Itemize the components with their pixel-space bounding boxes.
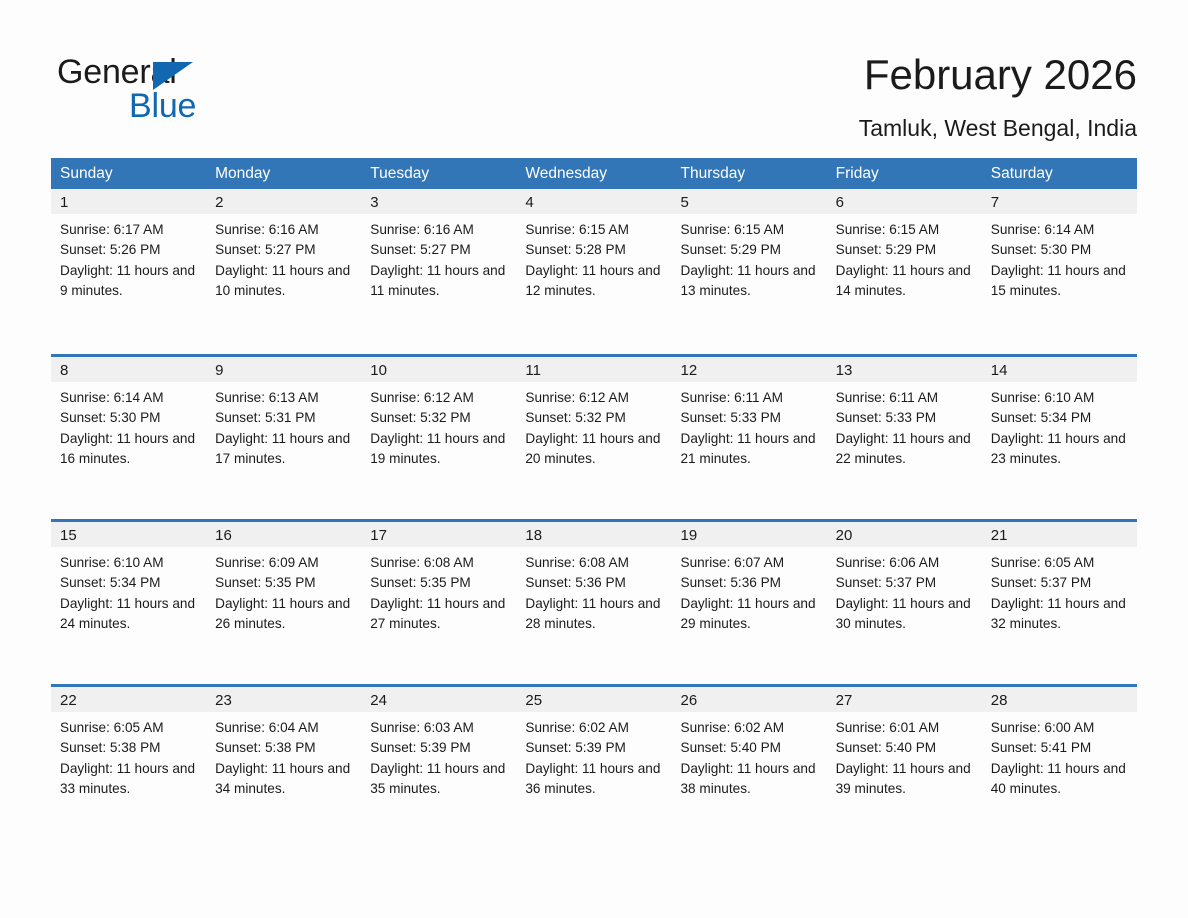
daylight-text: Daylight: 11 hours and 10 minutes. xyxy=(215,261,355,302)
sunset-text: Sunset: 5:29 PM xyxy=(836,240,976,260)
sunrise-text: Sunrise: 6:01 AM xyxy=(836,718,976,738)
sunset-text: Sunset: 5:39 PM xyxy=(525,738,665,758)
day-number: 10 xyxy=(361,357,516,382)
day-cell[interactable]: 1 Sunrise: 6:17 AM Sunset: 5:26 PM Dayli… xyxy=(51,189,206,354)
day-cell[interactable]: 13 Sunrise: 6:11 AM Sunset: 5:33 PM Dayl… xyxy=(827,354,982,519)
daylight-text: Daylight: 11 hours and 11 minutes. xyxy=(370,261,510,302)
sunset-text: Sunset: 5:27 PM xyxy=(215,240,355,260)
weekday-header-wednesday: Wednesday xyxy=(516,158,671,189)
sunset-text: Sunset: 5:30 PM xyxy=(60,408,200,428)
day-details: Sunrise: 6:07 AM Sunset: 5:36 PM Dayligh… xyxy=(672,547,827,634)
sunrise-text: Sunrise: 6:08 AM xyxy=(370,553,510,573)
day-details: Sunrise: 6:00 AM Sunset: 5:41 PM Dayligh… xyxy=(982,712,1137,799)
day-details: Sunrise: 6:11 AM Sunset: 5:33 PM Dayligh… xyxy=(827,382,982,469)
day-details: Sunrise: 6:02 AM Sunset: 5:40 PM Dayligh… xyxy=(672,712,827,799)
sunset-text: Sunset: 5:30 PM xyxy=(991,240,1131,260)
sunrise-text: Sunrise: 6:14 AM xyxy=(60,388,200,408)
sunrise-text: Sunrise: 6:05 AM xyxy=(60,718,200,738)
day-number: 12 xyxy=(672,357,827,382)
page-title: February 2026 xyxy=(859,50,1137,100)
day-number: 24 xyxy=(361,687,516,712)
day-cell[interactable]: 4 Sunrise: 6:15 AM Sunset: 5:28 PM Dayli… xyxy=(516,189,671,354)
day-details: Sunrise: 6:12 AM Sunset: 5:32 PM Dayligh… xyxy=(516,382,671,469)
day-cell[interactable]: 2 Sunrise: 6:16 AM Sunset: 5:27 PM Dayli… xyxy=(206,189,361,354)
day-details: Sunrise: 6:17 AM Sunset: 5:26 PM Dayligh… xyxy=(51,214,206,301)
daylight-text: Daylight: 11 hours and 15 minutes. xyxy=(991,261,1131,302)
location-subtitle: Tamluk, West Bengal, India xyxy=(859,114,1137,142)
sunset-text: Sunset: 5:40 PM xyxy=(681,738,821,758)
day-number: 2 xyxy=(206,189,361,214)
sunrise-text: Sunrise: 6:16 AM xyxy=(370,220,510,240)
day-cell[interactable]: 15 Sunrise: 6:10 AM Sunset: 5:34 PM Dayl… xyxy=(51,519,206,684)
daylight-text: Daylight: 11 hours and 35 minutes. xyxy=(370,759,510,800)
sunrise-text: Sunrise: 6:07 AM xyxy=(681,553,821,573)
day-details: Sunrise: 6:10 AM Sunset: 5:34 PM Dayligh… xyxy=(982,382,1137,469)
day-number: 1 xyxy=(51,189,206,214)
sunrise-text: Sunrise: 6:10 AM xyxy=(991,388,1131,408)
sunrise-text: Sunrise: 6:15 AM xyxy=(681,220,821,240)
sunrise-text: Sunrise: 6:02 AM xyxy=(681,718,821,738)
sunset-text: Sunset: 5:35 PM xyxy=(215,573,355,593)
day-number: 27 xyxy=(827,687,982,712)
sunrise-text: Sunrise: 6:03 AM xyxy=(370,718,510,738)
day-details: Sunrise: 6:10 AM Sunset: 5:34 PM Dayligh… xyxy=(51,547,206,634)
day-number: 5 xyxy=(672,189,827,214)
day-cell[interactable]: 8 Sunrise: 6:14 AM Sunset: 5:30 PM Dayli… xyxy=(51,354,206,519)
sunset-text: Sunset: 5:32 PM xyxy=(370,408,510,428)
daylight-text: Daylight: 11 hours and 40 minutes. xyxy=(991,759,1131,800)
title-block: February 2026 Tamluk, West Bengal, India xyxy=(859,50,1137,142)
daylight-text: Daylight: 11 hours and 20 minutes. xyxy=(525,429,665,470)
sunrise-text: Sunrise: 6:04 AM xyxy=(215,718,355,738)
daylight-text: Daylight: 11 hours and 33 minutes. xyxy=(60,759,200,800)
daylight-text: Daylight: 11 hours and 14 minutes. xyxy=(836,261,976,302)
day-cell[interactable]: 5 Sunrise: 6:15 AM Sunset: 5:29 PM Dayli… xyxy=(672,189,827,354)
week-row: 22 Sunrise: 6:05 AM Sunset: 5:38 PM Dayl… xyxy=(51,684,1137,849)
sunrise-text: Sunrise: 6:15 AM xyxy=(525,220,665,240)
daylight-text: Daylight: 11 hours and 32 minutes. xyxy=(991,594,1131,635)
day-cell[interactable]: 24 Sunrise: 6:03 AM Sunset: 5:39 PM Dayl… xyxy=(361,684,516,849)
daylight-text: Daylight: 11 hours and 16 minutes. xyxy=(60,429,200,470)
day-cell[interactable]: 27 Sunrise: 6:01 AM Sunset: 5:40 PM Dayl… xyxy=(827,684,982,849)
calendar-page: General Blue February 2026 Tamluk, West … xyxy=(0,0,1188,918)
sunrise-text: Sunrise: 6:12 AM xyxy=(370,388,510,408)
day-number: 16 xyxy=(206,522,361,547)
sunrise-text: Sunrise: 6:15 AM xyxy=(836,220,976,240)
daylight-text: Daylight: 11 hours and 17 minutes. xyxy=(215,429,355,470)
daylight-text: Daylight: 11 hours and 24 minutes. xyxy=(60,594,200,635)
sunset-text: Sunset: 5:33 PM xyxy=(836,408,976,428)
day-number: 18 xyxy=(516,522,671,547)
day-cell[interactable]: 3 Sunrise: 6:16 AM Sunset: 5:27 PM Dayli… xyxy=(361,189,516,354)
day-number: 17 xyxy=(361,522,516,547)
sunset-text: Sunset: 5:34 PM xyxy=(991,408,1131,428)
weekday-header-sunday: Sunday xyxy=(51,158,206,189)
day-cell[interactable]: 10 Sunrise: 6:12 AM Sunset: 5:32 PM Dayl… xyxy=(361,354,516,519)
day-details: Sunrise: 6:01 AM Sunset: 5:40 PM Dayligh… xyxy=(827,712,982,799)
day-number: 15 xyxy=(51,522,206,547)
sunrise-text: Sunrise: 6:11 AM xyxy=(836,388,976,408)
sunset-text: Sunset: 5:32 PM xyxy=(525,408,665,428)
daylight-text: Daylight: 11 hours and 13 minutes. xyxy=(681,261,821,302)
day-details: Sunrise: 6:08 AM Sunset: 5:35 PM Dayligh… xyxy=(361,547,516,634)
sunset-text: Sunset: 5:28 PM xyxy=(525,240,665,260)
day-number: 13 xyxy=(827,357,982,382)
day-details: Sunrise: 6:09 AM Sunset: 5:35 PM Dayligh… xyxy=(206,547,361,634)
day-cell[interactable]: 22 Sunrise: 6:05 AM Sunset: 5:38 PM Dayl… xyxy=(51,684,206,849)
daylight-text: Daylight: 11 hours and 26 minutes. xyxy=(215,594,355,635)
daylight-text: Daylight: 11 hours and 30 minutes. xyxy=(836,594,976,635)
day-cell[interactable]: 7 Sunrise: 6:14 AM Sunset: 5:30 PM Dayli… xyxy=(982,189,1137,354)
day-number: 21 xyxy=(982,522,1137,547)
day-cell[interactable]: 16 Sunrise: 6:09 AM Sunset: 5:35 PM Dayl… xyxy=(206,519,361,684)
sunset-text: Sunset: 5:40 PM xyxy=(836,738,976,758)
day-cell[interactable]: 17 Sunrise: 6:08 AM Sunset: 5:35 PM Dayl… xyxy=(361,519,516,684)
sunset-text: Sunset: 5:37 PM xyxy=(991,573,1131,593)
daylight-text: Daylight: 11 hours and 27 minutes. xyxy=(370,594,510,635)
day-number: 14 xyxy=(982,357,1137,382)
day-number: 4 xyxy=(516,189,671,214)
day-details: Sunrise: 6:08 AM Sunset: 5:36 PM Dayligh… xyxy=(516,547,671,634)
week-row: 8 Sunrise: 6:14 AM Sunset: 5:30 PM Dayli… xyxy=(51,354,1137,519)
daylight-text: Daylight: 11 hours and 19 minutes. xyxy=(370,429,510,470)
day-cell[interactable]: 12 Sunrise: 6:11 AM Sunset: 5:33 PM Dayl… xyxy=(672,354,827,519)
daylight-text: Daylight: 11 hours and 23 minutes. xyxy=(991,429,1131,470)
weekday-header-tuesday: Tuesday xyxy=(361,158,516,189)
sunset-text: Sunset: 5:31 PM xyxy=(215,408,355,428)
day-cell[interactable]: 6 Sunrise: 6:15 AM Sunset: 5:29 PM Dayli… xyxy=(827,189,982,354)
sunrise-text: Sunrise: 6:10 AM xyxy=(60,553,200,573)
sunset-text: Sunset: 5:33 PM xyxy=(681,408,821,428)
day-number: 6 xyxy=(827,189,982,214)
sunset-text: Sunset: 5:37 PM xyxy=(836,573,976,593)
sunrise-text: Sunrise: 6:06 AM xyxy=(836,553,976,573)
general-blue-logo[interactable]: General Blue xyxy=(57,52,317,128)
daylight-text: Daylight: 11 hours and 36 minutes. xyxy=(525,759,665,800)
day-cell[interactable]: 28 Sunrise: 6:00 AM Sunset: 5:41 PM Dayl… xyxy=(982,684,1137,849)
day-details: Sunrise: 6:05 AM Sunset: 5:38 PM Dayligh… xyxy=(51,712,206,799)
day-cell[interactable]: 23 Sunrise: 6:04 AM Sunset: 5:38 PM Dayl… xyxy=(206,684,361,849)
day-cell[interactable]: 20 Sunrise: 6:06 AM Sunset: 5:37 PM Dayl… xyxy=(827,519,982,684)
day-details: Sunrise: 6:14 AM Sunset: 5:30 PM Dayligh… xyxy=(51,382,206,469)
weekday-header-monday: Monday xyxy=(206,158,361,189)
daylight-text: Daylight: 11 hours and 22 minutes. xyxy=(836,429,976,470)
day-cell[interactable]: 11 Sunrise: 6:12 AM Sunset: 5:32 PM Dayl… xyxy=(516,354,671,519)
day-number: 20 xyxy=(827,522,982,547)
sunrise-text: Sunrise: 6:17 AM xyxy=(60,220,200,240)
day-number: 25 xyxy=(516,687,671,712)
day-number: 19 xyxy=(672,522,827,547)
sunset-text: Sunset: 5:39 PM xyxy=(370,738,510,758)
day-cell[interactable]: 19 Sunrise: 6:07 AM Sunset: 5:36 PM Dayl… xyxy=(672,519,827,684)
daylight-text: Daylight: 11 hours and 29 minutes. xyxy=(681,594,821,635)
sunrise-text: Sunrise: 6:11 AM xyxy=(681,388,821,408)
day-details: Sunrise: 6:11 AM Sunset: 5:33 PM Dayligh… xyxy=(672,382,827,469)
calendar-grid: Sunday Monday Tuesday Wednesday Thursday… xyxy=(51,158,1137,849)
sunrise-text: Sunrise: 6:05 AM xyxy=(991,553,1131,573)
day-details: Sunrise: 6:02 AM Sunset: 5:39 PM Dayligh… xyxy=(516,712,671,799)
day-number: 28 xyxy=(982,687,1137,712)
sunset-text: Sunset: 5:26 PM xyxy=(60,240,200,260)
day-details: Sunrise: 6:16 AM Sunset: 5:27 PM Dayligh… xyxy=(206,214,361,301)
day-cell[interactable]: 25 Sunrise: 6:02 AM Sunset: 5:39 PM Dayl… xyxy=(516,684,671,849)
day-cell[interactable]: 9 Sunrise: 6:13 AM Sunset: 5:31 PM Dayli… xyxy=(206,354,361,519)
day-details: Sunrise: 6:14 AM Sunset: 5:30 PM Dayligh… xyxy=(982,214,1137,301)
sunset-text: Sunset: 5:34 PM xyxy=(60,573,200,593)
sunrise-text: Sunrise: 6:16 AM xyxy=(215,220,355,240)
sunset-text: Sunset: 5:29 PM xyxy=(681,240,821,260)
day-details: Sunrise: 6:13 AM Sunset: 5:31 PM Dayligh… xyxy=(206,382,361,469)
daylight-text: Daylight: 11 hours and 38 minutes. xyxy=(681,759,821,800)
sunrise-text: Sunrise: 6:00 AM xyxy=(991,718,1131,738)
sunset-text: Sunset: 5:36 PM xyxy=(525,573,665,593)
sunset-text: Sunset: 5:36 PM xyxy=(681,573,821,593)
day-details: Sunrise: 6:03 AM Sunset: 5:39 PM Dayligh… xyxy=(361,712,516,799)
day-cell[interactable]: 18 Sunrise: 6:08 AM Sunset: 5:36 PM Dayl… xyxy=(516,519,671,684)
day-number: 9 xyxy=(206,357,361,382)
day-details: Sunrise: 6:12 AM Sunset: 5:32 PM Dayligh… xyxy=(361,382,516,469)
sunset-text: Sunset: 5:41 PM xyxy=(991,738,1131,758)
day-details: Sunrise: 6:16 AM Sunset: 5:27 PM Dayligh… xyxy=(361,214,516,301)
weekday-header-saturday: Saturday xyxy=(982,158,1137,189)
week-row: 1 Sunrise: 6:17 AM Sunset: 5:26 PM Dayli… xyxy=(51,189,1137,354)
day-number: 3 xyxy=(361,189,516,214)
day-number: 22 xyxy=(51,687,206,712)
sunset-text: Sunset: 5:38 PM xyxy=(60,738,200,758)
day-cell[interactable]: 21 Sunrise: 6:05 AM Sunset: 5:37 PM Dayl… xyxy=(982,519,1137,684)
weekday-header-friday: Friday xyxy=(827,158,982,189)
sunrise-text: Sunrise: 6:08 AM xyxy=(525,553,665,573)
day-number: 11 xyxy=(516,357,671,382)
sunrise-text: Sunrise: 6:14 AM xyxy=(991,220,1131,240)
sunrise-text: Sunrise: 6:13 AM xyxy=(215,388,355,408)
daylight-text: Daylight: 11 hours and 39 minutes. xyxy=(836,759,976,800)
page-header: General Blue February 2026 Tamluk, West … xyxy=(0,0,1188,150)
day-details: Sunrise: 6:15 AM Sunset: 5:28 PM Dayligh… xyxy=(516,214,671,301)
daylight-text: Daylight: 11 hours and 28 minutes. xyxy=(525,594,665,635)
daylight-text: Daylight: 11 hours and 21 minutes. xyxy=(681,429,821,470)
day-cell[interactable]: 14 Sunrise: 6:10 AM Sunset: 5:34 PM Dayl… xyxy=(982,354,1137,519)
day-details: Sunrise: 6:15 AM Sunset: 5:29 PM Dayligh… xyxy=(827,214,982,301)
sunset-text: Sunset: 5:27 PM xyxy=(370,240,510,260)
weekday-header-row: Sunday Monday Tuesday Wednesday Thursday… xyxy=(51,158,1137,189)
day-number: 23 xyxy=(206,687,361,712)
sunrise-text: Sunrise: 6:02 AM xyxy=(525,718,665,738)
sunset-text: Sunset: 5:35 PM xyxy=(370,573,510,593)
daylight-text: Daylight: 11 hours and 12 minutes. xyxy=(525,261,665,302)
day-details: Sunrise: 6:05 AM Sunset: 5:37 PM Dayligh… xyxy=(982,547,1137,634)
day-details: Sunrise: 6:06 AM Sunset: 5:37 PM Dayligh… xyxy=(827,547,982,634)
daylight-text: Daylight: 11 hours and 34 minutes. xyxy=(215,759,355,800)
sunrise-text: Sunrise: 6:12 AM xyxy=(525,388,665,408)
day-number: 8 xyxy=(51,357,206,382)
weekday-header-thursday: Thursday xyxy=(672,158,827,189)
week-row: 15 Sunrise: 6:10 AM Sunset: 5:34 PM Dayl… xyxy=(51,519,1137,684)
daylight-text: Daylight: 11 hours and 9 minutes. xyxy=(60,261,200,302)
day-number: 26 xyxy=(672,687,827,712)
sunset-text: Sunset: 5:38 PM xyxy=(215,738,355,758)
day-number: 7 xyxy=(982,189,1137,214)
sunrise-text: Sunrise: 6:09 AM xyxy=(215,553,355,573)
day-cell[interactable]: 26 Sunrise: 6:02 AM Sunset: 5:40 PM Dayl… xyxy=(672,684,827,849)
day-details: Sunrise: 6:04 AM Sunset: 5:38 PM Dayligh… xyxy=(206,712,361,799)
logo-text-blue: Blue xyxy=(129,86,196,126)
day-details: Sunrise: 6:15 AM Sunset: 5:29 PM Dayligh… xyxy=(672,214,827,301)
